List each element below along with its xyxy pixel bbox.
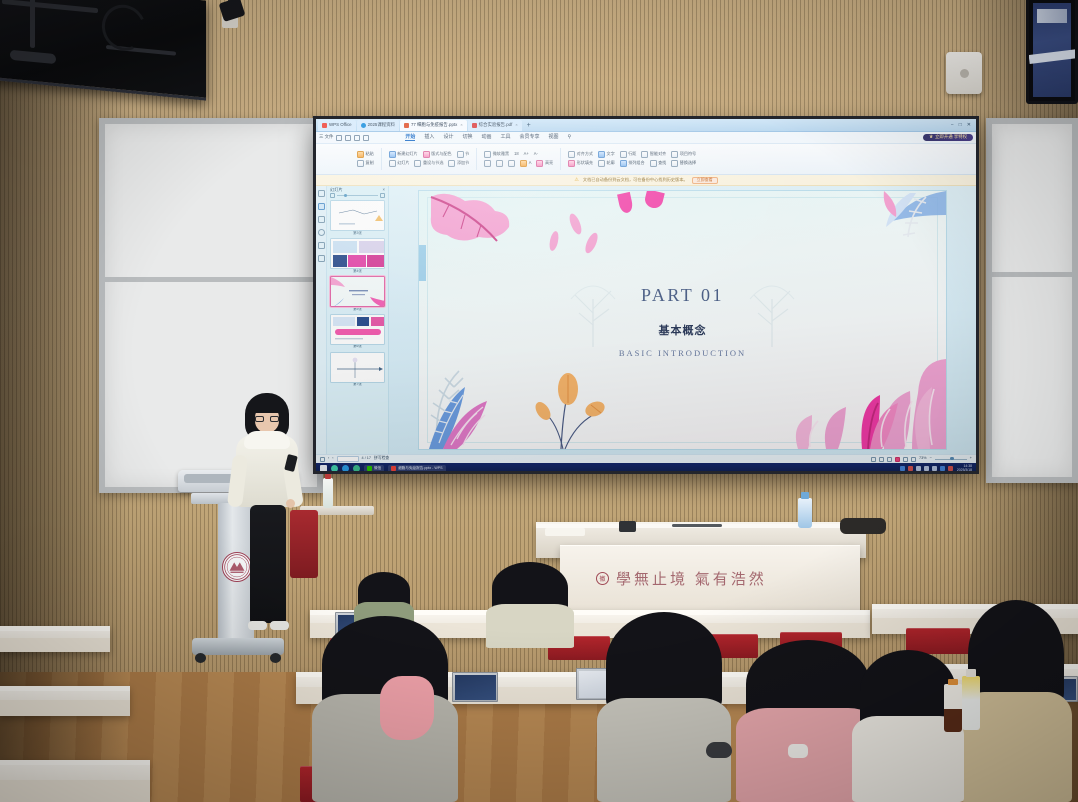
presenter-fringe: [249, 396, 285, 413]
page-indicator: 4 / 17: [362, 457, 372, 461]
slide-heading-cn: 基本概念: [419, 326, 946, 337]
pink-hood: [380, 676, 434, 740]
slide-heading-en: BASIC INTRODUCTION: [419, 349, 946, 358]
shrink-font-button[interactable]: A-: [534, 152, 538, 156]
ribbon-group-slide-ops[interactable]: 新建幻灯片 版式与配色 节 幻灯片: [389, 151, 470, 167]
podium-caster: [270, 653, 281, 663]
selection-pane-icon[interactable]: [318, 255, 325, 262]
notes-icon[interactable]: [903, 457, 908, 462]
windows-start-icon[interactable]: [320, 465, 327, 471]
save-icon[interactable]: [336, 135, 342, 141]
smart-align-icon: [641, 151, 648, 158]
prev-slide-button[interactable]: ‹: [328, 457, 329, 461]
photo-grid-preview: [331, 239, 385, 269]
tab-tools[interactable]: 工具: [500, 135, 510, 141]
diagram-preview: [331, 201, 385, 231]
replace-icon: [671, 160, 678, 167]
underline-button[interactable]: [508, 160, 515, 167]
add-section-button[interactable]: 添加节: [448, 160, 469, 167]
presenter-hand: [286, 499, 295, 508]
slide-thumbnail-panel[interactable]: 幻灯片 ×: [327, 186, 389, 454]
ribbon-divider: [560, 148, 561, 170]
text-direction-button[interactable]: 文字: [598, 151, 615, 158]
student-row1-center: [492, 562, 568, 648]
reset-icon: [414, 160, 421, 167]
highlight-icon: [536, 160, 543, 167]
slide-thumbnail-5-selected[interactable]: [330, 276, 385, 307]
slide-part-label: PART 01: [419, 286, 946, 304]
print-icon[interactable]: [345, 135, 351, 141]
ribbon-divider: [381, 148, 382, 170]
water-bottle: [323, 478, 333, 508]
presenter-shoe: [270, 621, 289, 630]
paste-icon: [357, 151, 364, 158]
list-item[interactable]: 第7张: [330, 352, 385, 387]
podium-banner-panel: 徽 學無止境 氣有浩然: [560, 545, 860, 612]
align-icon: [568, 151, 575, 158]
wps-logo-icon: [322, 123, 327, 128]
tab-transition[interactable]: 切换: [462, 135, 472, 141]
smart-align-button[interactable]: 智能对齐: [641, 151, 666, 158]
presenter-legs: [250, 505, 286, 623]
left-rail[interactable]: [316, 186, 327, 454]
quick-access-toolbar[interactable]: 三 文件: [319, 135, 369, 141]
slide-button[interactable]: 幻灯片: [389, 160, 410, 167]
fit-slide-icon[interactable]: [911, 457, 916, 462]
next-slide-button[interactable]: ‹: [332, 457, 333, 461]
pump-cap: [801, 492, 809, 499]
whiteboard-right: [986, 118, 1078, 483]
undo-icon[interactable]: [354, 135, 360, 141]
close-icon[interactable]: ×: [383, 188, 385, 192]
yellow-bottle: [962, 676, 980, 730]
highlight-button[interactable]: 高亮: [536, 160, 553, 167]
cloud-icon[interactable]: [940, 466, 945, 471]
new-slide-button[interactable]: 新建幻灯片: [389, 151, 418, 158]
tab-animation[interactable]: 动画: [481, 135, 491, 141]
tab-wps-office[interactable]: WPS Office: [318, 120, 356, 131]
orange-tulips-icon: [519, 365, 615, 449]
tab-view[interactable]: 视图: [549, 135, 559, 141]
presenter-hood: [244, 431, 290, 449]
add-section-icon: [448, 160, 455, 167]
spellcheck-label[interactable]: 拼写检查: [374, 457, 389, 461]
minimize-icon[interactable]: −: [951, 123, 954, 128]
battery-icon[interactable]: [924, 466, 929, 471]
notification-text: 文档已自动备份到云文档，可在备份中心找到历史版本。: [583, 178, 688, 182]
backup-notification-bar[interactable]: ⚠ 文档已自动备份到云文档，可在备份中心找到历史版本。 立即查看: [316, 175, 976, 186]
tab-label: 综合实验报告.pdf: [479, 123, 513, 127]
font-name-select[interactable]: 微软雅黑: [484, 151, 509, 158]
computer-mouse: [706, 742, 732, 758]
fit-panel-icon[interactable]: [380, 193, 385, 198]
tab-insert[interactable]: 插入: [424, 135, 434, 141]
flowchart-preview: [331, 353, 385, 383]
taskbar-app-wechat[interactable]: 微信: [364, 465, 384, 472]
podium-banner-text: 學無止境 氣有浩然: [616, 568, 767, 589]
taskbar-clock[interactable]: 14:38 2025/3/18: [957, 465, 972, 471]
paper-sheet: [545, 528, 585, 536]
grid-view-icon[interactable]: [330, 193, 335, 198]
thumbnail-zoom-slider[interactable]: [337, 195, 378, 196]
blue-foliage-top-right-icon: [806, 191, 946, 269]
list-item[interactable]: 第5张: [330, 276, 385, 311]
menu-bar[interactable]: 三 文件 开始 插入 设计 切换 动画 工具 会员专享 视图 ⚲: [316, 132, 976, 144]
tab-design[interactable]: 设计: [443, 135, 453, 141]
ribbon-divider: [476, 148, 477, 170]
edge-icon[interactable]: [342, 465, 349, 471]
input-method-icon[interactable]: [932, 466, 937, 471]
close-window-icon[interactable]: ✕: [967, 123, 971, 128]
desk-row-4-left: [0, 686, 130, 716]
align-button[interactable]: 对齐方式: [568, 151, 593, 158]
comment-icon[interactable]: [318, 229, 325, 236]
slide-thumbnail-3[interactable]: [330, 200, 385, 231]
line-spacing-icon: [620, 151, 627, 158]
notification-action-button[interactable]: 立即查看: [692, 177, 718, 184]
costa-coffee-bottle: [944, 684, 962, 732]
tab-active-pptx[interactable]: 77 细胞与免疫报告.pptx ×: [400, 120, 467, 131]
slide-thumbnail-icon[interactable]: [318, 203, 325, 210]
close-icon[interactable]: ×: [460, 123, 462, 127]
desk-box: [619, 521, 636, 532]
page-indicator-box[interactable]: [337, 456, 359, 462]
thumbnail-label: 第6张: [353, 345, 362, 348]
bottle-cap: [948, 679, 958, 685]
ribbon-toolbar[interactable]: 粘贴 复制 新建幻灯片 版式与配色: [316, 144, 976, 175]
current-slide[interactable]: PART 01 基本概念 BASIC INTRODUCTION: [419, 191, 946, 449]
tab-label: WPS Office: [329, 123, 352, 127]
pdf-icon: [472, 123, 477, 128]
zoom-out-button[interactable]: −: [930, 457, 932, 461]
system-tray[interactable]: [900, 466, 953, 471]
warning-icon: ⚠: [574, 178, 578, 183]
laptop-open: [452, 672, 498, 702]
slide-thumbnail-4[interactable]: [330, 238, 385, 269]
network-icon[interactable]: [900, 466, 905, 471]
shape-outline-icon: [598, 160, 605, 167]
classroom-scene: WPS Office 2025课程资料 77 细胞与免疫报告.pptx × 综合…: [0, 0, 1078, 802]
outline-icon[interactable]: [318, 216, 325, 223]
paste-button[interactable]: 粘贴: [357, 151, 374, 158]
slide-canvas-area[interactable]: PART 01 基本概念 BASIC INTRODUCTION: [389, 186, 976, 454]
student-row3-right: [968, 600, 1064, 802]
thumbnail-list[interactable]: 第3张: [327, 200, 388, 454]
list-item[interactable]: 第6张: [330, 314, 385, 349]
zoom-slider[interactable]: [935, 459, 967, 460]
new-tab-button[interactable]: +: [523, 122, 535, 129]
wechat-icon: [367, 466, 372, 471]
search-icon[interactable]: [331, 465, 338, 471]
maximize-icon[interactable]: □: [959, 123, 962, 128]
desk-row-3-left: [0, 626, 110, 652]
notification-icon[interactable]: [908, 466, 913, 471]
slide-thumbnail-6[interactable]: [330, 314, 385, 345]
font-name-icon: [484, 151, 491, 158]
red-chair-behind-podium: [290, 510, 318, 578]
white-earbuds-case: [788, 744, 808, 758]
tab-course-folder[interactable]: 2025课程资料: [357, 120, 399, 131]
copy-icon: [357, 160, 364, 167]
crown-icon: ♛: [929, 135, 933, 139]
bottle-cap: [966, 669, 976, 677]
font-size-select[interactable]: 18: [514, 152, 519, 156]
reading-view-icon[interactable]: [887, 457, 892, 462]
copy-button[interactable]: 复制: [357, 160, 374, 167]
explorer-icon[interactable]: [353, 465, 360, 471]
thumbnail-label: 第4张: [353, 270, 362, 273]
pink-leaf-top-left-icon: [427, 191, 555, 259]
upgrade-vip-button[interactable]: ♛ 立即开通 享特权: [923, 134, 973, 141]
play-icon[interactable]: [895, 457, 900, 462]
side-wall-monitor: [1026, 0, 1078, 104]
presenter-shoe: [248, 621, 267, 630]
clock-date: 2025/3/18: [957, 469, 972, 472]
thumbnail-label: 第7张: [353, 383, 362, 386]
shape-outline-button[interactable]: 轮廓: [598, 160, 615, 167]
normal-view-icon[interactable]: [871, 457, 876, 462]
grid-icon[interactable]: [320, 457, 325, 462]
bottle-cap: [325, 474, 331, 479]
smoke-detector-icon: [946, 52, 982, 94]
line-spacing-button[interactable]: 行距: [620, 151, 637, 158]
tab-member[interactable]: 会员专享: [520, 135, 540, 141]
editor-body: 幻灯片 ×: [316, 186, 976, 454]
redo-icon[interactable]: [363, 135, 369, 141]
grow-font-button[interactable]: A+: [524, 152, 529, 156]
wps-presentation-window: WPS Office 2025课程资料 77 细胞与免疫报告.pptx × 综合…: [316, 119, 976, 471]
ribbon-group-font[interactable]: 微软雅黑 18 A+ A-: [484, 151, 553, 167]
thumbnail-label: 第5张: [353, 308, 362, 311]
windows-taskbar[interactable]: 微信 细胞与免疫报告.pptx - WPS 14:38: [316, 463, 976, 471]
ribbon-tabs[interactable]: 开始 插入 设计 切换 动画 工具 会员专享 视图 ⚲: [405, 135, 571, 141]
bookmark-icon[interactable]: [318, 190, 325, 197]
text-dir-icon: [598, 151, 605, 158]
section-icon: [457, 151, 464, 158]
new-slide-icon: [389, 151, 396, 158]
layout-button[interactable]: 版式与配色: [423, 151, 452, 158]
file-menu-label[interactable]: 三 文件: [319, 135, 333, 139]
desk-cable: [672, 524, 722, 527]
window-controls[interactable]: − □ ✕: [951, 123, 976, 128]
ribbon-group-clipboard[interactable]: 粘贴 复制: [357, 151, 374, 167]
underline-icon: [508, 160, 515, 167]
content-preview: [331, 315, 385, 345]
thumbnail-label: 第3张: [353, 232, 362, 235]
ppt-icon: [404, 123, 409, 128]
section-button[interactable]: 节: [457, 151, 470, 158]
list-item[interactable]: 第3张: [330, 200, 385, 235]
layout-icon: [423, 151, 430, 158]
bullets-icon: [671, 151, 678, 158]
slide-icon: [389, 160, 396, 167]
font-color-button[interactable]: A: [520, 160, 531, 167]
podium-caster: [195, 653, 206, 663]
bold-icon: [484, 160, 491, 167]
bold-button[interactable]: [484, 160, 491, 167]
slide-panel-tools[interactable]: [327, 193, 388, 200]
zoom-level-label: 73%: [919, 457, 927, 461]
status-bar[interactable]: ‹ ‹ 4 / 17 拼写检查 73% − +: [316, 454, 976, 463]
dark-bag: [840, 518, 886, 534]
slide-panel-title: 幻灯片: [330, 188, 343, 192]
tab-start[interactable]: 开始: [405, 135, 415, 141]
italic-icon: [496, 160, 503, 167]
part-cover-preview: [331, 277, 385, 307]
taskbar-app-wps[interactable]: 细胞与免疫报告.pptx - WPS: [388, 465, 445, 472]
tab-report-pdf[interactable]: 综合实验报告.pdf ×: [468, 120, 522, 131]
zoom-in-button[interactable]: +: [970, 457, 972, 461]
student-row2-left: [322, 616, 448, 802]
arrange-icon: [620, 160, 627, 167]
shape-fill-icon: [568, 160, 575, 167]
arrange-button[interactable]: 排列组合: [620, 160, 645, 167]
list-item[interactable]: 第4张: [330, 238, 385, 273]
folder-icon: [361, 123, 366, 128]
ceiling-camera-icon: [215, 0, 245, 42]
glasses-icon: [255, 416, 279, 422]
italic-button[interactable]: [496, 160, 503, 167]
bullets-button[interactable]: 项目符号: [671, 151, 696, 158]
hand-sanitizer-bottle: [798, 498, 812, 528]
petal-icon: [419, 245, 426, 281]
tab-label: 2025课程资料: [368, 123, 395, 127]
sorter-view-icon[interactable]: [879, 457, 884, 462]
document-tab-bar[interactable]: WPS Office 2025课程资料 77 细胞与免疫报告.pptx × 综合…: [316, 119, 976, 132]
student-row3-far: [860, 650, 956, 802]
wps-icon: [391, 466, 396, 471]
find-icon: [650, 160, 657, 167]
vip-label: 立即开通 享特权: [935, 135, 967, 139]
projection-screen: WPS Office 2025课程资料 77 细胞与免疫报告.pptx × 综合…: [316, 119, 976, 471]
replace-button[interactable]: 替换选择: [671, 160, 696, 167]
tab-label: 77 细胞与免疫报告.pptx: [411, 123, 457, 127]
search-icon[interactable]: ⚲: [568, 135, 572, 141]
seal-icon: 徽: [596, 572, 609, 585]
desk-row-5-left: [0, 760, 150, 802]
font-color-icon: [520, 160, 527, 167]
annotate-icon[interactable]: [318, 242, 325, 249]
shape-fill-button[interactable]: 形状填充: [568, 160, 593, 167]
close-icon[interactable]: ×: [515, 123, 517, 127]
antivirus-icon[interactable]: [948, 466, 953, 471]
reset-button[interactable]: 重设与节选: [414, 160, 443, 167]
volume-icon[interactable]: [916, 466, 921, 471]
ribbon-group-paragraph[interactable]: 对齐方式 文字 行距 智能对齐 项目符号: [568, 151, 696, 167]
student-row2-center: [606, 612, 722, 802]
bottom-right-foliage-icon: [766, 349, 946, 449]
slide-thumbnail-7[interactable]: [330, 352, 385, 383]
find-button[interactable]: 查找: [650, 160, 667, 167]
